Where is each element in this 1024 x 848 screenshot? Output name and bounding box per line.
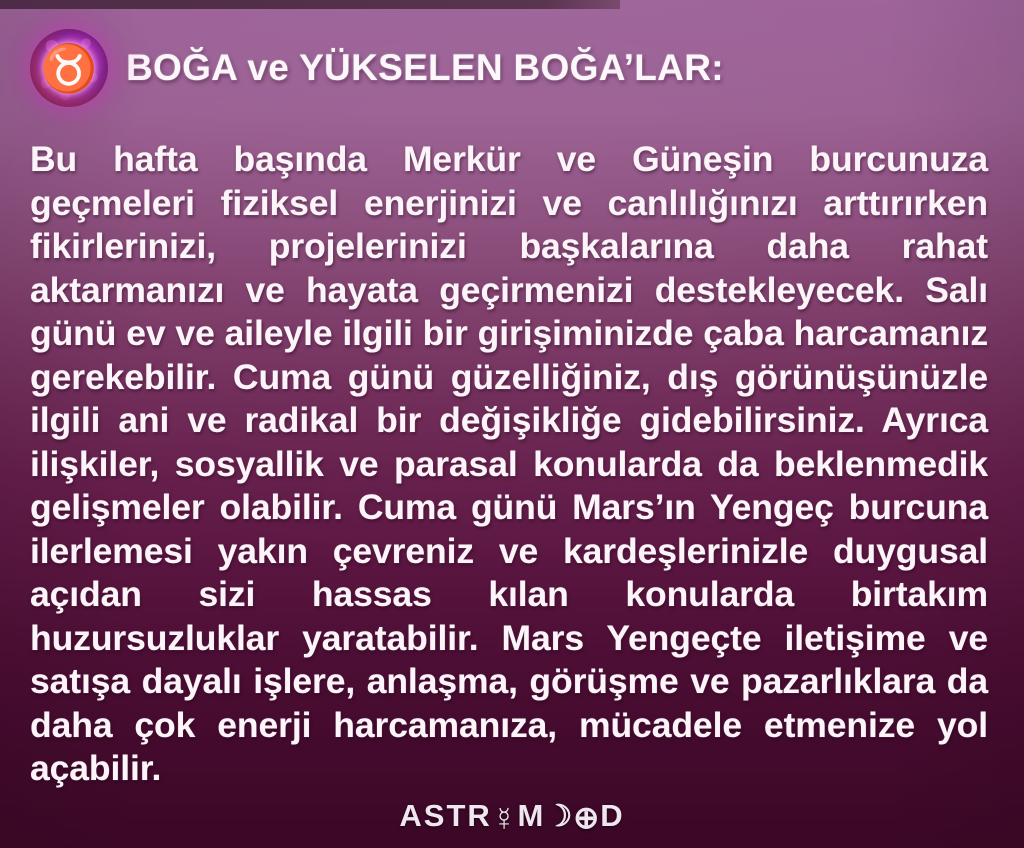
top-bar [0,0,620,9]
page-title: BOĞA ve YÜKSELEN BOĞA’LAR: [126,47,724,89]
earth-symbol-icon: ⊕ [573,802,600,833]
horoscope-body: Bu hafta başında Merkür ve Güneşin burcu… [30,138,988,834]
horoscope-paragraph: Bu hafta başında Merkür ve Güneşin burcu… [30,138,988,834]
brand-text-part-1: ASTR [399,798,491,834]
moon-symbol-icon: ☽ [545,802,573,832]
taurus-badge-icon: ♉ [30,29,108,107]
brand-text-part-2: M [518,798,546,834]
brand-text-part-3: D [600,798,624,834]
brand-logo: ASTR ☿ M ☽ ⊕ D [0,798,1024,834]
mercury-symbol-icon: ☿ [492,802,518,835]
card-header: ♉ BOĞA ve YÜKSELEN BOĞA’LAR: [30,22,1000,114]
horoscope-card: ♉ BOĞA ve YÜKSELEN BOĞA’LAR: Bu hafta ba… [0,0,1024,848]
taurus-glyph-icon: ♉ [40,45,97,91]
